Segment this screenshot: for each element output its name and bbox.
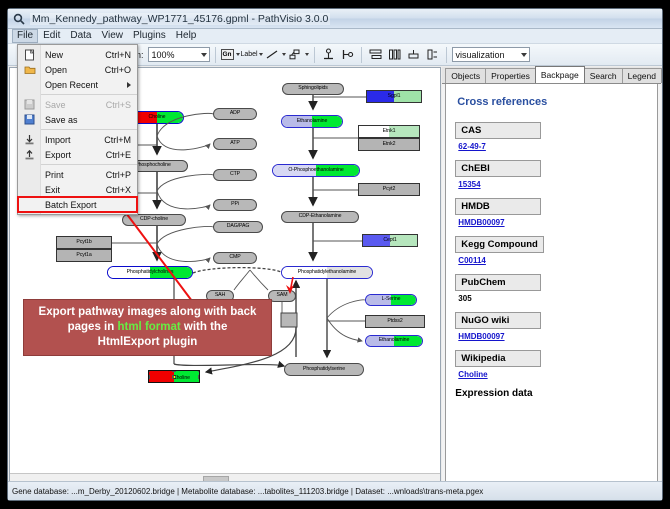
node-label: ATP: [230, 141, 239, 146]
menu-separator: [41, 164, 137, 165]
node-phosphatidylethanolamine[interactable]: Phosphatidylethanolamine: [281, 266, 373, 279]
menu-item-accelerator: Ctrl+O: [105, 65, 137, 75]
new-file-icon: [18, 47, 41, 62]
interaction-tool[interactable]: [288, 48, 309, 61]
node-label: SAH: [215, 293, 225, 298]
save-disk-icon: [18, 97, 41, 112]
annotation-line2-pre: pages in: [68, 321, 118, 333]
menu-item-label: Open Recent: [41, 80, 127, 90]
menu-item-accelerator: Ctrl+P: [106, 170, 137, 180]
distribute-vertical-button[interactable]: [386, 46, 403, 63]
menu-item-label: Import: [41, 135, 104, 145]
menubar: File Edit Data View Plugins Help: [8, 29, 662, 44]
node-cdp-choline[interactable]: CDP-choline: [122, 214, 186, 226]
statusbar-text: Gene database: ...m_Derby_20120602.bridg…: [12, 487, 483, 496]
gene-etnk1[interactable]: Etnk1: [358, 125, 420, 138]
xref-value-link[interactable]: HMDB00097: [458, 332, 648, 341]
selection-handle[interactable]: [172, 382, 176, 383]
tab-properties[interactable]: Properties: [485, 68, 536, 83]
node-label: Phosphocholine: [135, 163, 171, 168]
xref-hmdb: HMDB HMDB00097: [455, 196, 648, 227]
node-cdp-ethanolamine[interactable]: CDP-Ethanolamine: [281, 211, 359, 223]
node-label: Phosphatidylcholines: [127, 270, 174, 275]
node-dag-pag[interactable]: DAG/PAG: [213, 221, 263, 233]
annotation-callout: Export pathway images along with back pa…: [23, 299, 272, 356]
node-l-serine[interactable]: L-Serine: [365, 294, 417, 306]
menu-data[interactable]: Data: [65, 29, 96, 43]
visualization-combobox[interactable]: visualization: [452, 47, 530, 62]
gene-pcyt1b[interactable]: Pcyt1b: [56, 236, 112, 249]
xref-db-label: Kegg Compound: [455, 236, 544, 253]
xref-db-label: NuGO wiki: [455, 312, 541, 329]
node-label: Choline: [172, 375, 176, 379]
node-phosphatidylcholines[interactable]: Phosphatidylcholines: [107, 266, 193, 279]
menu-item-print[interactable]: Print Ctrl+P: [18, 167, 137, 182]
node-adp[interactable]: ADP: [213, 108, 257, 120]
zoom-combobox[interactable]: 100%: [148, 47, 210, 62]
toolbar-separator: [446, 47, 447, 63]
selection-handle[interactable]: [148, 370, 150, 372]
menu-item-label: Exit: [41, 185, 106, 195]
gene-ptdss2[interactable]: Ptdss2: [365, 315, 425, 328]
gene-pcyt1a[interactable]: Pcyt1a: [56, 249, 112, 262]
xref-pubchem: PubChem 305: [455, 272, 648, 303]
menu-item-new[interactable]: New Ctrl+N: [18, 47, 137, 62]
menu-item-open[interactable]: Open Ctrl+O: [18, 62, 137, 77]
xref-db-label: PubChem: [455, 274, 541, 291]
menu-item-accelerator: Ctrl+N: [105, 50, 137, 60]
gene-etnk2[interactable]: Etnk2: [358, 138, 420, 151]
save-as-icon: [18, 112, 41, 127]
tab-objects[interactable]: Objects: [445, 68, 486, 83]
tab-backpage[interactable]: Backpage: [535, 66, 585, 83]
node-label: Phosphatidylserine: [303, 367, 345, 372]
gene-cept1[interactable]: Cept1: [362, 234, 418, 247]
chevron-down-icon: [201, 53, 207, 57]
visualization-value: visualization: [456, 50, 505, 60]
node-cmp[interactable]: CMP: [213, 252, 257, 264]
menu-item-label: Export: [41, 150, 106, 160]
xref-kegg-compound: Kegg Compound C00114: [455, 234, 648, 265]
menu-item-label: Save: [41, 100, 106, 110]
gene-pcyt2[interactable]: Pcyt2: [358, 183, 420, 196]
menu-item-accelerator: Ctrl+X: [106, 185, 137, 195]
menu-item-batch-export[interactable]: Batch Export: [18, 197, 137, 212]
selection-handle[interactable]: [198, 370, 200, 372]
align-left-button[interactable]: [339, 46, 356, 63]
datanode-tool[interactable]: Gn: [221, 49, 240, 60]
menu-item-label: New: [41, 50, 105, 60]
menu-file[interactable]: File: [12, 29, 38, 43]
menu-plugins[interactable]: Plugins: [128, 29, 171, 43]
line-tool[interactable]: [265, 48, 286, 61]
node-sphingolipids[interactable]: Sphingolipids: [282, 83, 344, 95]
chevron-down-icon: [236, 53, 240, 56]
node-label: Sphingolipids: [298, 86, 328, 91]
node-label: DAG/PAG: [227, 224, 250, 229]
menu-item-accelerator: Ctrl+E: [106, 150, 137, 160]
toolbar-separator: [314, 47, 315, 63]
node-phosphatidylserine[interactable]: Phosphatidylserine: [284, 363, 364, 376]
node-label: CTP: [230, 172, 240, 177]
side-panel: Objects Properties Backpage Search Legen…: [442, 67, 661, 484]
xref-value-link[interactable]: C00114: [458, 256, 648, 265]
node-ppi[interactable]: PPi: [213, 199, 257, 211]
node-label: Cept1: [383, 238, 396, 243]
tab-legend[interactable]: Legend: [622, 68, 662, 83]
node-label: Etnk1: [383, 129, 396, 134]
statusbar: Gene database: ...m_Derby_20120602.bridg…: [8, 481, 662, 500]
node-label: Sgpl1: [388, 94, 401, 99]
selection-handle[interactable]: [148, 375, 150, 379]
label-tool[interactable]: Label: [242, 48, 263, 61]
node-label: CDP-Ethanolamine: [299, 214, 342, 219]
xref-wikipedia: Wikipedia Choline: [455, 348, 648, 379]
node-choline-selected[interactable]: Choline: [148, 370, 200, 383]
chevron-down-icon: [521, 53, 527, 57]
node-sam[interactable]: SAM: [268, 290, 296, 302]
label-icon: Label: [242, 48, 257, 61]
node-label: PPi: [231, 202, 239, 207]
annotation-highlight: html format: [117, 321, 180, 333]
xref-value-link[interactable]: HMDB00097: [458, 218, 648, 227]
annotation-line1: Export pathway images along with back: [39, 306, 257, 318]
menu-item-save[interactable]: Save Ctrl+S: [18, 97, 137, 112]
chevron-down-icon: [259, 53, 263, 56]
xref-value-link[interactable]: 62-49-7: [458, 142, 648, 151]
window-titlebar: Mm_Kennedy_pathway_WP1771_45176.gpml - P…: [8, 9, 662, 29]
menu-item-exit[interactable]: Exit Ctrl+X: [18, 182, 137, 197]
menu-separator: [41, 129, 137, 130]
zoom-value: 100%: [152, 50, 175, 60]
node-label: Pcyt1b: [76, 240, 91, 245]
node-label: CMP: [229, 255, 240, 260]
menu-separator: [41, 94, 137, 95]
annotation-line3: HtmlExport plugin: [98, 336, 198, 348]
node-atp[interactable]: ATP: [213, 138, 257, 150]
node-label: Ethanolamine: [297, 119, 328, 124]
xref-chebi: ChEBI 15354: [455, 158, 648, 189]
expression-data-title: Expression data: [455, 388, 648, 399]
align-top-button[interactable]: [320, 46, 337, 63]
xref-nugo-wiki: NuGO wiki HMDB00097: [455, 310, 648, 341]
xref-db-label: ChEBI: [455, 160, 541, 177]
gene-sgpl1[interactable]: Sgpl1: [366, 90, 422, 103]
chevron-right-icon: [127, 82, 131, 88]
chevron-down-icon: [282, 53, 286, 56]
xref-db-label: HMDB: [455, 198, 541, 215]
group-button[interactable]: [405, 46, 422, 63]
node-ethanolamine[interactable]: Ethanolamine: [281, 115, 343, 128]
window-title: Mm_Kennedy_pathway_WP1771_45176.gpml - P…: [30, 13, 330, 25]
cross-references-title: Cross references: [457, 96, 648, 108]
selection-handle[interactable]: [198, 382, 200, 383]
node-label: Pcyt1a: [76, 253, 91, 258]
xref-db-label: Wikipedia: [455, 350, 541, 367]
annotation-line2-post: with the: [181, 321, 228, 333]
menu-item-label: Batch Export: [41, 200, 131, 210]
side-panel-tabs: Objects Properties Backpage Search Legen…: [442, 67, 661, 84]
menu-edit[interactable]: Edit: [38, 29, 65, 43]
node-label: ADP: [230, 111, 240, 116]
pathvisio-app-icon: [13, 13, 25, 25]
menu-item-accelerator: Ctrl+M: [104, 135, 137, 145]
menu-item-export[interactable]: Export Ctrl+E: [18, 147, 137, 162]
xref-db-label: CAS: [455, 122, 541, 139]
xref-value-link[interactable]: 15354: [458, 180, 648, 189]
node-label: O-Phosphoethanolamine: [288, 168, 343, 173]
selection-handle[interactable]: [172, 370, 176, 372]
menu-item-label: Print: [41, 170, 106, 180]
menu-item-label: Save as: [41, 115, 131, 125]
menu-item-save-as[interactable]: Save as: [18, 112, 137, 127]
menu-item-open-recent[interactable]: Open Recent: [18, 77, 137, 92]
xref-value-text: 305: [458, 294, 648, 303]
interaction-icon: [288, 48, 303, 61]
application-window: Mm_Kennedy_pathway_WP1771_45176.gpml - P…: [7, 8, 663, 501]
selection-handle[interactable]: [198, 375, 200, 379]
node-label: Phosphatidylethanolamine: [298, 270, 356, 275]
open-folder-icon: [18, 62, 41, 77]
menu-view[interactable]: View: [96, 29, 128, 43]
file-menu-dropdown[interactable]: New Ctrl+N Open Ctrl+O Open Recent: [17, 44, 138, 215]
chevron-down-icon: [305, 53, 309, 56]
selection-handle[interactable]: [148, 382, 150, 383]
menu-item-label: Open: [41, 65, 105, 75]
node-label: Ptdss2: [387, 319, 402, 324]
backpage-content: Cross references CAS 62-49-7 ChEBI 15354…: [445, 84, 658, 482]
menu-item-accelerator: Ctrl+S: [106, 100, 137, 110]
toolbar-separator: [215, 47, 216, 63]
toolbar-separator: [361, 47, 362, 63]
node-ctp[interactable]: CTP: [213, 169, 257, 181]
order-button[interactable]: [424, 46, 441, 63]
node-ethanolamine-lower[interactable]: Ethanolamine: [365, 335, 423, 347]
distribute-horizontal-button[interactable]: [367, 46, 384, 63]
node-o-phosphoethanolamine[interactable]: O-Phosphoethanolamine: [272, 164, 360, 177]
node-label: SAM: [277, 293, 288, 298]
xref-cas: CAS 62-49-7: [455, 120, 648, 151]
import-icon: [18, 132, 41, 147]
node-label: Pcyt2: [383, 187, 395, 192]
menu-help[interactable]: Help: [171, 29, 202, 43]
node-label: Ethanolamine: [379, 338, 410, 343]
node-label: Choline: [149, 115, 166, 120]
node-choline-top[interactable]: Choline: [130, 111, 184, 124]
menu-item-import[interactable]: Import Ctrl+M: [18, 132, 137, 147]
gene-node-icon: Gn: [221, 49, 234, 60]
node-label: CDP-choline: [140, 217, 168, 222]
line-icon: [265, 48, 280, 61]
screenshot-root: Mm_Kennedy_pathway_WP1771_45176.gpml - P…: [0, 0, 670, 509]
xref-value-link[interactable]: Choline: [458, 370, 648, 379]
node-label: Etnk2: [383, 142, 396, 147]
export-icon: [18, 147, 41, 162]
node-label: L-Serine: [382, 297, 401, 302]
tab-search[interactable]: Search: [584, 68, 623, 83]
